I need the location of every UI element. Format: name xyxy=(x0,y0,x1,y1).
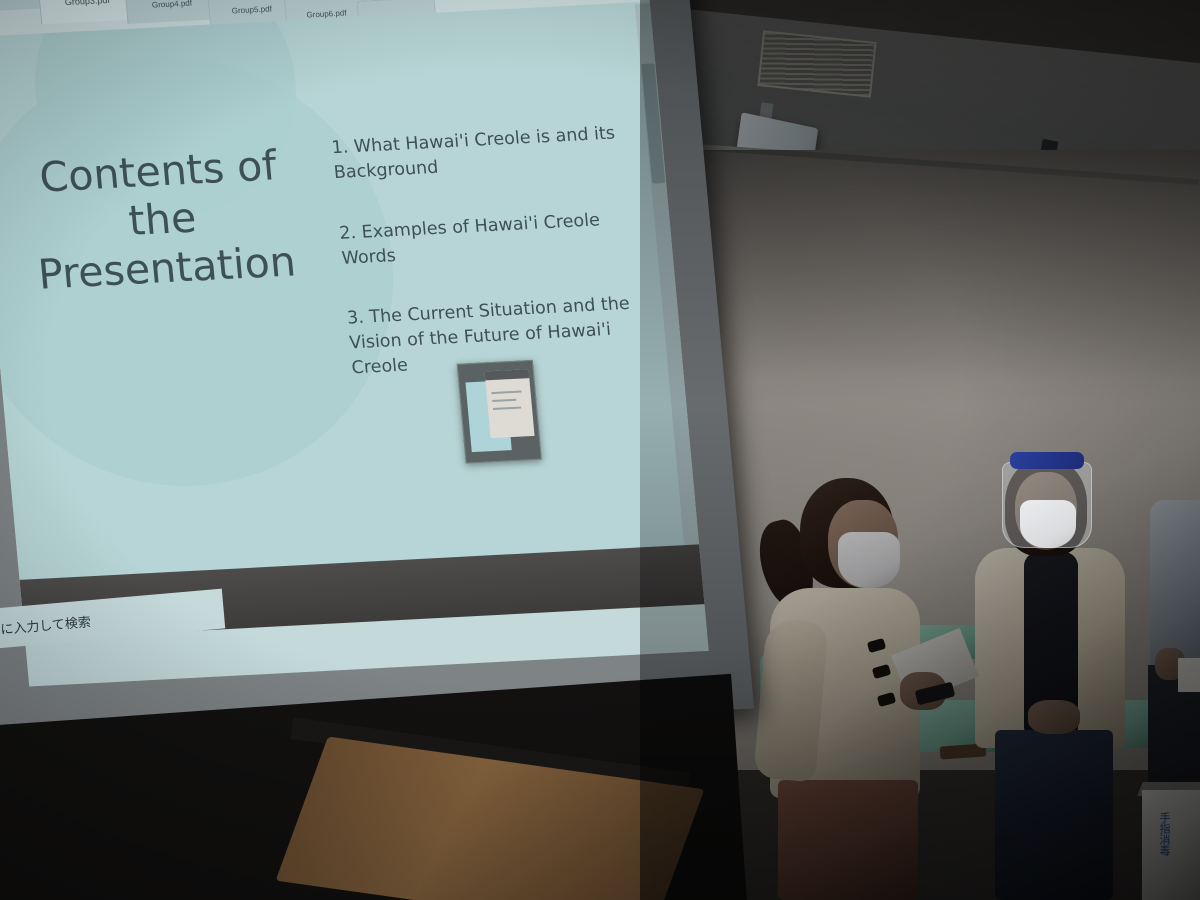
slide-title: Contents of the Presentation xyxy=(0,139,334,301)
wall-shadow xyxy=(640,150,1200,380)
presentation-slide: Contents of the Presentation 1. What Haw… xyxy=(0,2,699,580)
presenter-one-skirt xyxy=(778,780,918,900)
face-shield-icon xyxy=(1002,462,1092,548)
bystander-paper xyxy=(1178,658,1200,692)
taskbar-preview-popup[interactable] xyxy=(457,360,542,464)
search-placeholder: ここに入力して検索 xyxy=(0,611,91,640)
slide-list-item: 2. Examples of Hawai'i Creole Words xyxy=(338,206,642,271)
pdf-tab-label: Group4.pdf xyxy=(152,0,193,9)
ceiling-air-vent-icon xyxy=(757,30,876,98)
face-shield-band xyxy=(1010,452,1084,469)
pdf-tab-label: Group5.pdf xyxy=(231,4,272,15)
pdf-tab[interactable]: Group4.pdf xyxy=(124,0,219,24)
preview-text-line xyxy=(491,391,521,395)
presenter-two-pants xyxy=(995,730,1113,900)
preview-text-line xyxy=(493,407,521,410)
pdf-tab-active[interactable]: Group3.pdf xyxy=(37,0,137,24)
pdf-tab-label: Group3.pdf xyxy=(64,0,110,7)
classroom-scene: 手指消毒 3.pdf Group3.pdf Group4.pdf Group5.… xyxy=(0,0,1200,900)
screen-surface: 3.pdf Group3.pdf Group4.pdf Group5.pdf G… xyxy=(0,0,709,686)
sanitizer-box-label: 手指消毒 xyxy=(1150,812,1170,856)
slide-list-item: 1. What Hawai'i Creole is and its Backgr… xyxy=(331,121,635,186)
face-mask-icon xyxy=(838,532,900,588)
presenter-two-hands xyxy=(1028,700,1080,734)
preview-text-line xyxy=(492,399,516,402)
preview-window xyxy=(485,369,535,438)
